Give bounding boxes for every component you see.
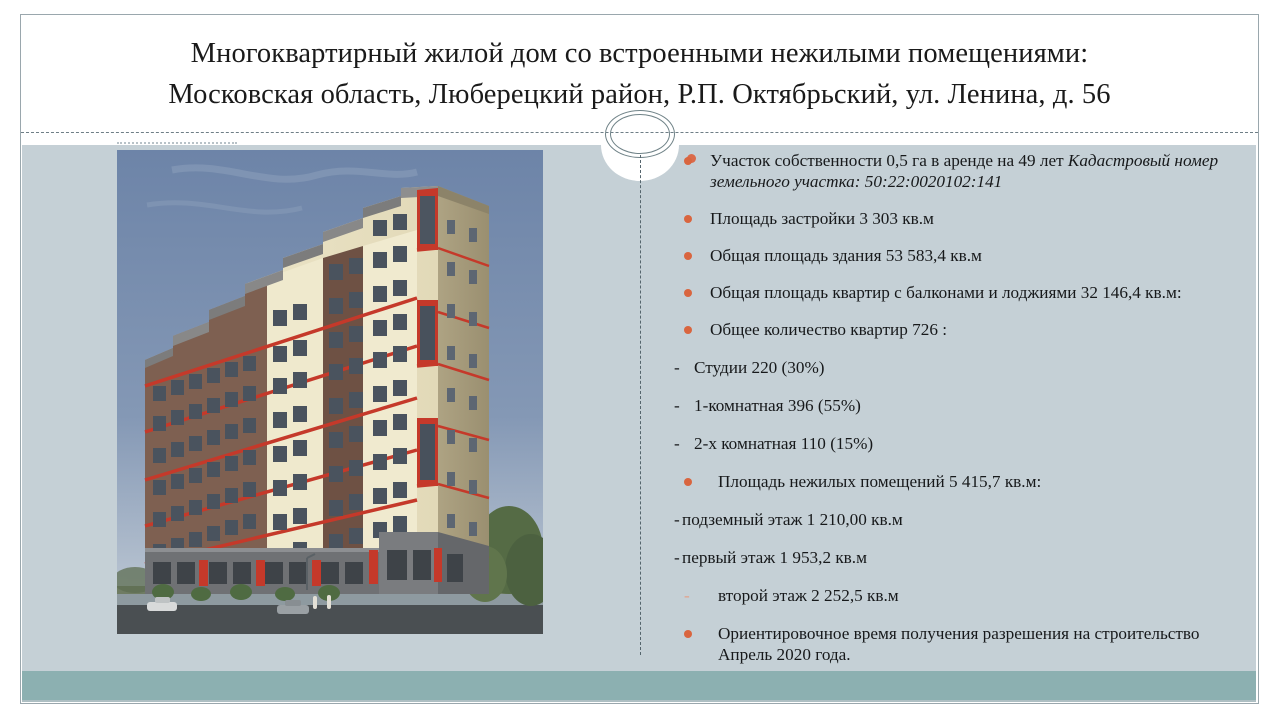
list-item: 2-х комнатная 110 (15%) xyxy=(672,433,1248,454)
list-item-text: Общее количество квартир 726 : xyxy=(710,319,1248,340)
list-item-text: Ориентировочное время получения разрешен… xyxy=(718,623,1248,665)
slide: Многоквартирный жилой дом со встроенными… xyxy=(0,0,1280,720)
list-item-text: 2-х комнатная 110 (15%) xyxy=(694,433,1248,454)
column-divider-dashed xyxy=(640,155,641,655)
list-item: Общее количество квартир 726 : xyxy=(672,319,1248,340)
list-item: 1-комнатная 396 (55%) xyxy=(672,395,1248,416)
building-rendering-svg xyxy=(117,150,543,634)
list-item-text: Студии 220 (30%) xyxy=(694,357,1248,378)
building-rendering-image xyxy=(117,150,543,634)
list-item-text: Общая площадь здания 53 583,4 кв.м xyxy=(710,245,1248,266)
list-item-text: подземный этаж 1 210,00 кв.м xyxy=(682,509,1248,530)
page-title: Многоквартирный жилой дом со встроенными… xyxy=(80,33,1200,115)
list-item: Общая площадь здания 53 583,4 кв.м xyxy=(672,245,1248,266)
oval-ornament-icon xyxy=(605,110,675,158)
list-item: Общая площадь квартир с балконами и лодж… xyxy=(672,282,1248,303)
list-item: второй этаж 2 252,5 кв.м xyxy=(672,585,1248,606)
list-item: Площадь нежилых помещений 5 415,7 кв.м: xyxy=(672,471,1248,492)
list-item: Участок собственности 0,5 га в аренде на… xyxy=(672,150,1248,192)
list-item: Ориентировочное время получения разрешен… xyxy=(672,623,1248,665)
bottom-accent-bar xyxy=(22,671,1256,700)
list-item-text: 1-комнатная 396 (55%) xyxy=(694,395,1248,416)
oval-ring-inner-icon xyxy=(610,114,670,154)
list-item-text: Площадь застройки 3 303 кв.м xyxy=(710,208,1248,229)
picture-top-dotted-rule xyxy=(117,142,237,147)
list-item: Студии 220 (30%) xyxy=(672,357,1248,378)
list-item-text: второй этаж 2 252,5 кв.м xyxy=(718,585,1248,606)
list-item-text: Площадь нежилых помещений 5 415,7 кв.м: xyxy=(718,471,1248,492)
list-item: подземный этаж 1 210,00 кв.м xyxy=(672,509,1248,530)
title-line-2: Московская область, Люберецкий район, Р.… xyxy=(80,74,1200,115)
bottom-accent-underline xyxy=(22,700,1256,702)
list-item-text: первый этаж 1 953,2 кв.м xyxy=(682,547,1248,568)
list-item-text: Участок собственности 0,5 га в аренде на… xyxy=(710,150,1248,192)
list-item-text: Общая площадь квартир с балконами и лодж… xyxy=(710,282,1248,303)
list-item: первый этаж 1 953,2 кв.м xyxy=(672,547,1248,568)
title-line-1: Многоквартирный жилой дом со встроенными… xyxy=(80,33,1200,74)
details-list: Участок собственности 0,5 га в аренде на… xyxy=(672,146,1248,665)
list-item: Площадь застройки 3 303 кв.м xyxy=(672,208,1248,229)
